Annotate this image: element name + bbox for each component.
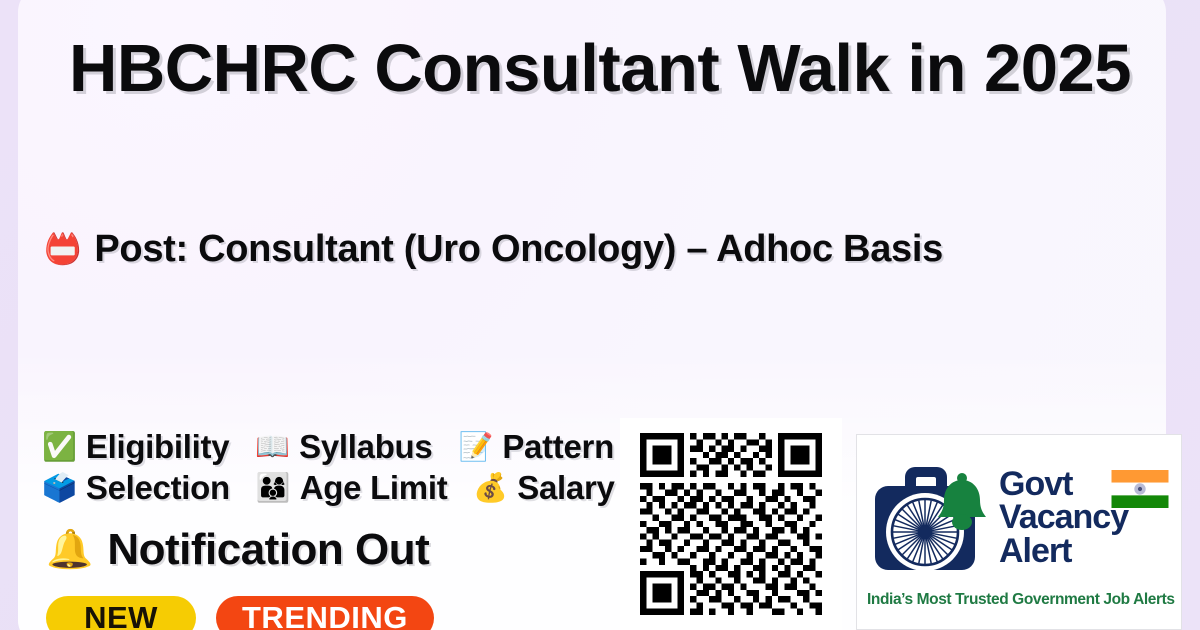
post-title: Post: Consultant (Uro Oncology) – Adhoc … [94, 228, 943, 271]
feature-item-pattern: 📝 Pattern [458, 428, 613, 466]
selection-ballot-emoji: 🗳️ [42, 474, 77, 502]
post-line: 📛 Post: Consultant (Uro Oncology) – Adho… [44, 228, 943, 271]
open-book-emoji: 📖 [255, 433, 290, 461]
notification-label: Notification Out [107, 525, 429, 575]
qr-code-card[interactable] [620, 418, 842, 630]
brand-tagline: India’s Most Trusted Government Job Aler… [867, 591, 1171, 609]
feature-item-syllabus: 📖 Syllabus [255, 428, 432, 466]
feature-list: ✅ Eligibility 📖 Syllabus 📝 Pattern 🗳️ Se… [42, 428, 641, 510]
name-badge-emoji: 📛 [44, 235, 81, 265]
bell-emoji: 🔔 [46, 531, 93, 569]
brand-wordmark-lines: Govt Vacancy Alert [999, 468, 1128, 568]
brand-line-3: Alert [999, 535, 1128, 568]
badge-row: NEW TRENDING [46, 596, 434, 630]
brand-wordmark: Govt Vacancy Alert [995, 468, 1171, 568]
page-title: HBCHRC Consultant Walk in 2025 [55, 24, 1145, 113]
brand-line-1: Govt [999, 468, 1128, 501]
feature-label: Selection [86, 469, 230, 507]
feature-item-age-limit: 👨‍👩‍👦 Age Limit [256, 469, 448, 507]
notification-line: 🔔 Notification Out [46, 525, 429, 575]
poster-canvas: HBCHRC Consultant Walk in 2025 📛 Post: C… [0, 0, 1200, 630]
feature-label: Eligibility [86, 428, 229, 466]
india-flag-icon [1111, 470, 1169, 508]
badge-trending[interactable]: TRENDING [216, 596, 434, 630]
title-block: HBCHRC Consultant Walk in 2025 [0, 24, 1200, 113]
badge-new[interactable]: NEW [46, 596, 196, 630]
feature-label: Syllabus [299, 428, 432, 466]
feature-row: ✅ Eligibility 📖 Syllabus 📝 Pattern [42, 428, 641, 466]
money-bag-emoji: 💰 [473, 474, 508, 502]
feature-item-salary: 💰 Salary [473, 469, 614, 507]
qr-code-icon [640, 433, 822, 615]
feature-item-selection: 🗳️ Selection [42, 469, 230, 507]
family-emoji: 👨‍👩‍👦 [256, 474, 291, 502]
brand-line-2: Vacancy [999, 501, 1128, 534]
brand-logo-card[interactable]: Govt Vacancy Alert India’s Most Trusted … [856, 434, 1182, 630]
briefcase-chakra-bell-icon [867, 452, 995, 584]
memo-emoji: 📝 [458, 433, 493, 461]
brand-logo-top: Govt Vacancy Alert [867, 447, 1171, 589]
check-mark-emoji: ✅ [42, 433, 77, 461]
feature-label: Salary [517, 469, 614, 507]
feature-row: 🗳️ Selection 👨‍👩‍👦 Age Limit 💰 Salary [42, 469, 641, 507]
feature-label: Pattern [502, 428, 614, 466]
feature-label: Age Limit [300, 469, 448, 507]
feature-item-eligibility: ✅ Eligibility [42, 428, 229, 466]
